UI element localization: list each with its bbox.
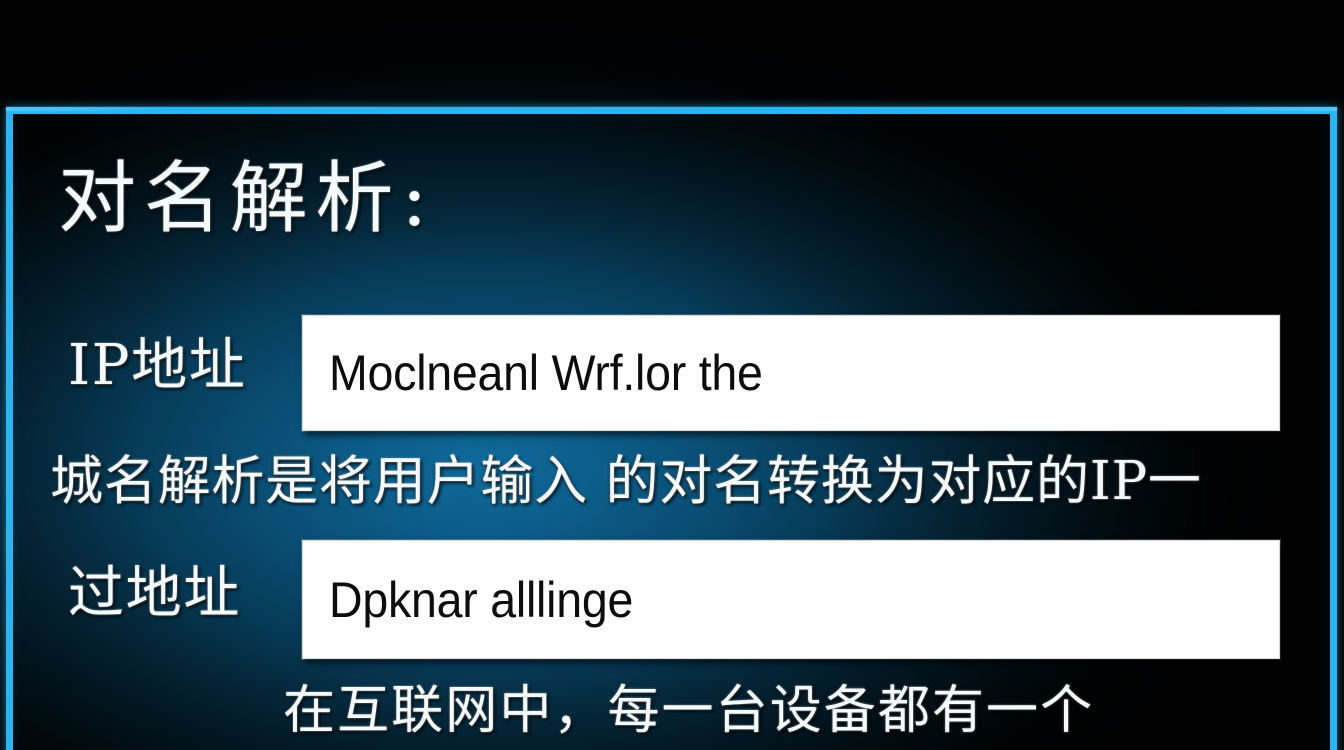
description-line-bottom: 在互联网中，每一台设备都有一个 xyxy=(283,685,1094,737)
description-line-middle: 城名解析是将用户输入 的对名转换为对应的IP一 xyxy=(50,455,1202,508)
field-label-address: 过地址 xyxy=(68,566,241,622)
text-input-ip-address[interactable]: Moclneanl Wrf.lor the xyxy=(302,315,1280,431)
field-label-ip-address: IP地址 xyxy=(68,338,247,394)
text-input-address[interactable]: Dpknar alllinge xyxy=(302,540,1280,659)
slide-content: 对名解析: IP地址 Moclneanl Wrf.lor the 城名解析是将用… xyxy=(0,0,1344,750)
slide-canvas: 对名解析: IP地址 Moclneanl Wrf.lor the 城名解析是将用… xyxy=(0,0,1344,750)
text-input-ip-address-value: Moclneanl Wrf.lor the xyxy=(303,348,763,398)
text-input-address-value: Dpknar alllinge xyxy=(303,575,633,625)
page-title: 对名解析: xyxy=(58,160,435,238)
